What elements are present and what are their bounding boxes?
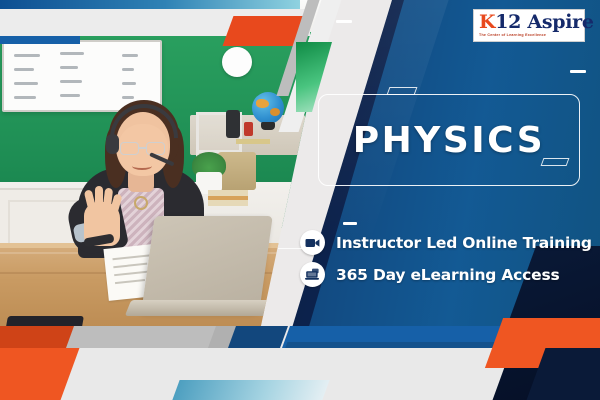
top-gradient-bar [0, 0, 300, 9]
list-item: Instructor Led Online Training [300, 230, 592, 255]
necklace [134, 196, 148, 210]
feature-list: Instructor Led Online Training 365 Day e… [300, 230, 592, 294]
logo-text: 12 Aspire [495, 11, 593, 33]
parallelogram-accent [541, 158, 570, 166]
dash-accent [570, 70, 586, 73]
band-navy [228, 326, 288, 348]
book-stack [208, 190, 248, 206]
wall-clock [222, 47, 252, 77]
laptop-icon [300, 262, 325, 287]
globe-stand [261, 122, 275, 130]
photo-scene [0, 0, 330, 340]
instructor-photo [0, 0, 330, 340]
band-orange-dark [0, 326, 74, 348]
list-item: 365 Day eLearning Access [300, 262, 592, 287]
dash-accent [343, 222, 357, 225]
book [236, 139, 270, 144]
top-blue-accent [0, 36, 80, 44]
promo-banner: K12 Aspire The Center of Learning Excell… [0, 0, 600, 400]
speaker [226, 110, 240, 138]
band-teal-gradient [172, 380, 329, 400]
page-title: PHYSICS [353, 120, 545, 161]
brand-logo[interactable]: K12 Aspire The Center of Learning Excell… [473, 9, 585, 42]
feature-label: Instructor Led Online Training [336, 234, 592, 252]
smile [132, 162, 152, 170]
globe [252, 92, 284, 124]
dash-accent [336, 20, 352, 23]
video-camera-icon [300, 230, 325, 255]
glasses-icon [120, 142, 139, 155]
logo-wordmark: K12 Aspire [479, 13, 580, 32]
logo-letter-k: K [479, 11, 495, 33]
feature-label: 365 Day eLearning Access [336, 266, 560, 284]
line-accent [278, 248, 314, 249]
cup [244, 122, 253, 136]
logo-tagline: The Center of Learning Excellence [479, 33, 580, 37]
laptop-screen [141, 216, 272, 312]
parallelogram-accent [387, 87, 418, 95]
laptop-base [125, 300, 281, 316]
course-title-box: PHYSICS [318, 94, 580, 186]
